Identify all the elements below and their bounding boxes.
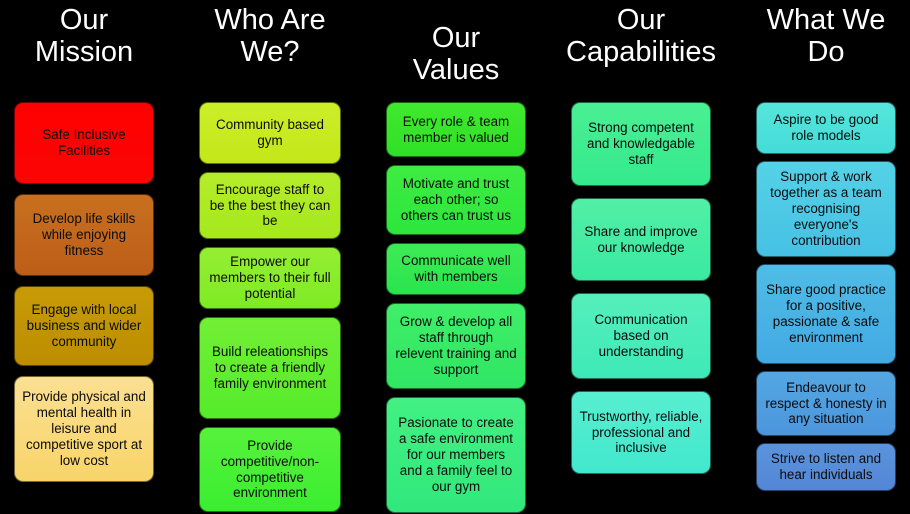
card-share-good-practice[interactable]: Share good practice for a positive, pass… — [756, 264, 896, 364]
card-strong-competent-staff[interactable]: Strong competent and knowledgable staff — [571, 102, 711, 186]
card-list-what-we-do: Aspire to be good role models Support & … — [756, 96, 896, 491]
strategy-board: Our Mission Safe Inclusive Facilities De… — [0, 0, 910, 514]
card-endeavour-respect-honesty[interactable]: Endeavour to respect & honesty in any si… — [756, 371, 896, 436]
card-build-relationships[interactable]: Build releationships to create a friendl… — [199, 317, 341, 419]
column-heading-our-mission: Our Mission — [14, 0, 154, 96]
card-empower-members[interactable]: Empower our members to their full potent… — [199, 247, 341, 309]
card-communicate-well[interactable]: Communicate well with members — [386, 243, 526, 295]
card-provide-physical-mental-health[interactable]: Provide physical and mental health in le… — [14, 376, 154, 482]
card-support-work-together[interactable]: Support & work together as a team recogn… — [756, 161, 896, 257]
card-list-our-capabilities: Strong competent and knowledgable staff … — [571, 96, 711, 474]
card-list-our-values: Every role & team member is valued Motiv… — [386, 96, 526, 513]
card-engage-with-local-business[interactable]: Engage with local business and wider com… — [14, 286, 154, 366]
card-safe-inclusive-facilities[interactable]: Safe Inclusive Facilities — [14, 102, 154, 184]
card-every-role-valued[interactable]: Every role & team member is valued — [386, 102, 526, 157]
card-passionate-safe-environment[interactable]: Pasionate to create a safe environment f… — [386, 397, 526, 513]
card-communication-understanding[interactable]: Communication based on understanding — [571, 293, 711, 379]
card-motivate-and-trust[interactable]: Motivate and trust each other; so others… — [386, 165, 526, 235]
card-list-our-mission: Safe Inclusive Facilities Develop life s… — [14, 96, 154, 482]
column-heading-who-are-we: Who Are We? — [199, 0, 341, 96]
card-strive-to-listen[interactable]: Strive to listen and hear individuals — [756, 443, 896, 491]
column-our-values: Our Values Every role & team member is v… — [386, 0, 526, 514]
card-grow-and-develop-staff[interactable]: Grow & develop all staff through releven… — [386, 303, 526, 389]
card-list-who-are-we: Community based gym Encourage staff to b… — [199, 96, 341, 512]
column-heading-our-values: Our Values — [386, 0, 526, 96]
card-trustworthy-reliable[interactable]: Trustworthy, reliable, professional and … — [571, 391, 711, 474]
card-develop-life-skills[interactable]: Develop life skills while enjoying fitne… — [14, 194, 154, 276]
card-encourage-staff[interactable]: Encourage staff to be the best they can … — [199, 172, 341, 239]
card-share-improve-knowledge[interactable]: Share and improve our knowledge — [571, 198, 711, 281]
card-aspire-role-models[interactable]: Aspire to be good role models — [756, 102, 896, 154]
card-provide-competitive-environment[interactable]: Provide competitive/non-competitive envi… — [199, 427, 341, 512]
column-heading-our-capabilities: Our Capabilities — [571, 0, 711, 96]
column-what-we-do: What We Do Aspire to be good role models… — [756, 0, 896, 514]
column-heading-what-we-do: What We Do — [756, 0, 896, 96]
column-our-capabilities: Our Capabilities Strong competent and kn… — [571, 0, 711, 514]
column-who-are-we: Who Are We? Community based gym Encourag… — [199, 0, 341, 514]
card-community-based-gym[interactable]: Community based gym — [199, 102, 341, 164]
column-our-mission: Our Mission Safe Inclusive Facilities De… — [14, 0, 154, 514]
